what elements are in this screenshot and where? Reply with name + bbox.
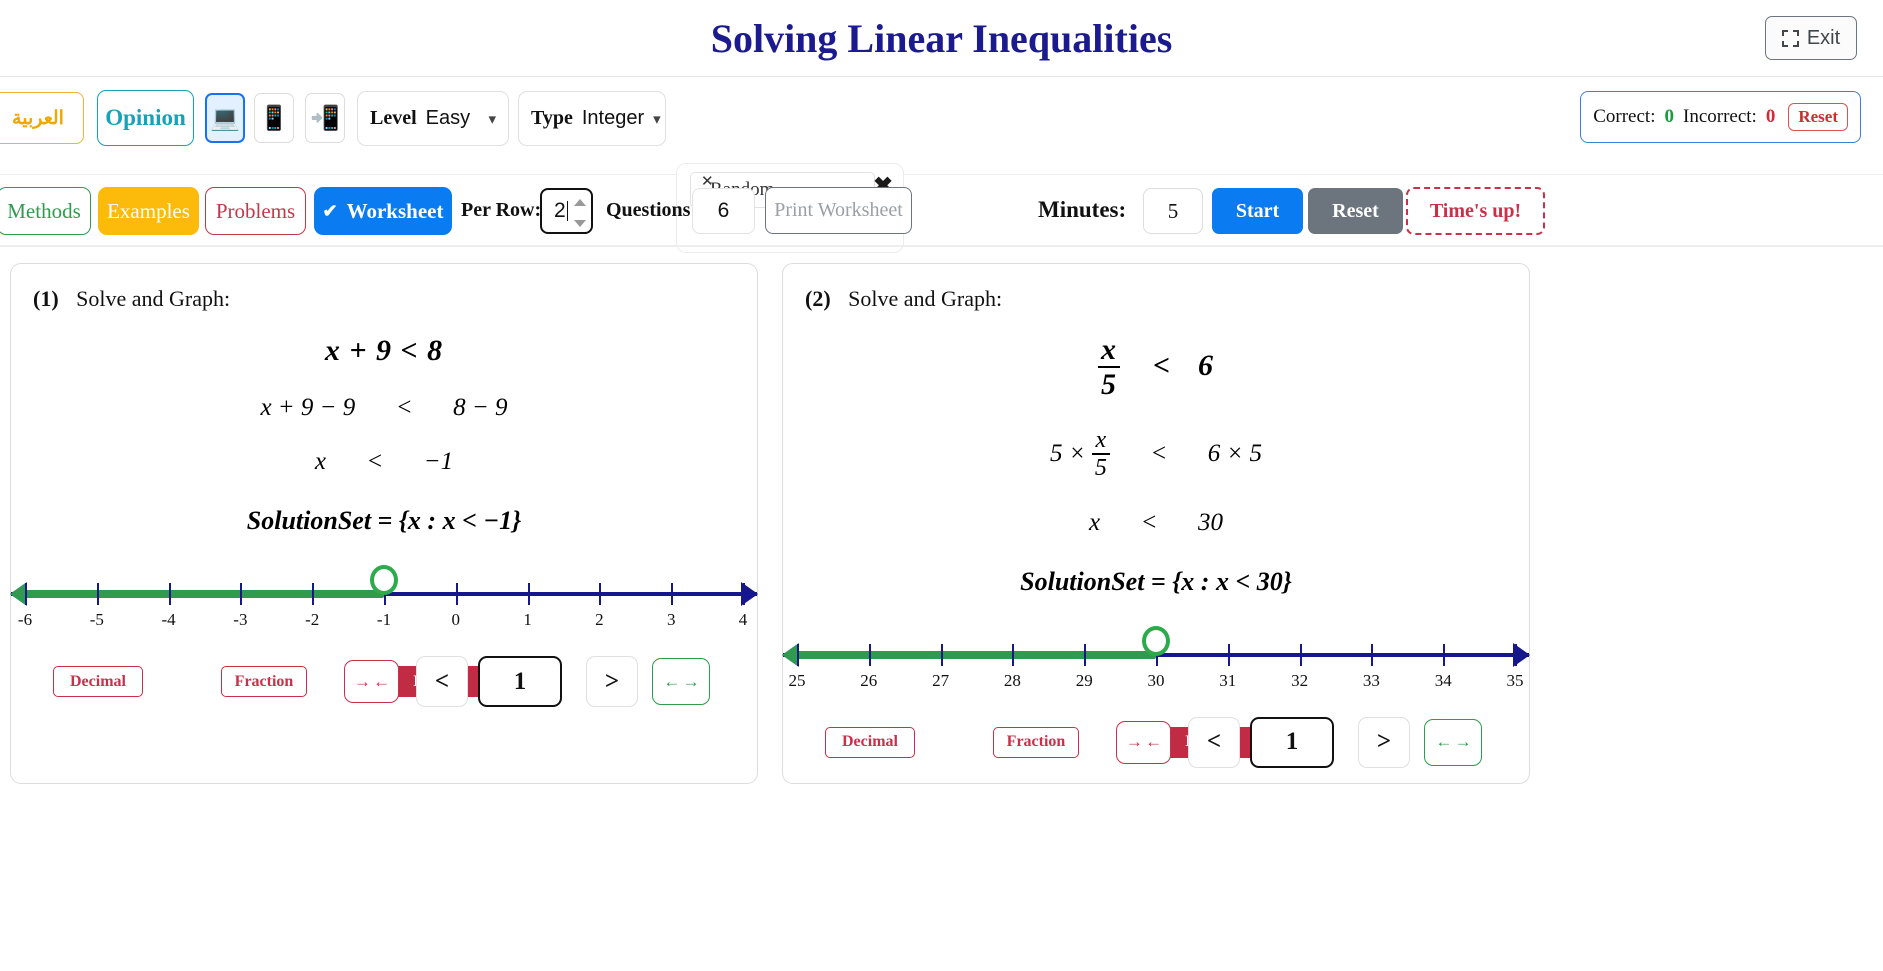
tab-methods[interactable]: Methods: [0, 187, 91, 235]
chevron-down-icon: ▾: [653, 110, 661, 128]
problem-2-step-1: 5 × x 5 < 6 × 5: [783, 428, 1529, 483]
exit-label: Exit: [1807, 27, 1840, 50]
problem-2-solution-set: SolutionSet = {x : x < 30}: [783, 567, 1529, 597]
axis-tick-label: 2: [595, 610, 604, 630]
level-label: Level: [370, 107, 417, 130]
less-than-icon: <: [1207, 728, 1221, 756]
increment-button[interactable]: >: [1358, 717, 1410, 768]
axis-tick-label: 27: [932, 671, 949, 691]
axis-tick: [1012, 644, 1014, 666]
problem-card-1: (1) Solve and Graph: x + 9 < 8 x + 9 − 9…: [10, 263, 758, 784]
greater-than-icon: >: [605, 668, 619, 696]
axis-tick: [312, 583, 314, 605]
minutes-label: Minutes:: [1038, 197, 1126, 223]
step-right: −1: [424, 448, 453, 475]
axis-tick-label: 31: [1219, 671, 1236, 691]
step-value: 1: [514, 668, 527, 696]
step-value-input[interactable]: 1: [478, 656, 562, 707]
increment-button[interactable]: >: [586, 656, 638, 707]
step-left: x: [1089, 509, 1100, 536]
axis-tick: [743, 583, 745, 605]
problem-2-prompt: Solve and Graph:: [848, 286, 1002, 311]
axis-tick-label: -2: [305, 610, 319, 630]
fraction: x 5: [1092, 428, 1110, 483]
step-rel: <: [366, 448, 383, 475]
problem-1-header: (1) Solve and Graph:: [11, 264, 757, 312]
problem-2-number: (2): [805, 286, 831, 311]
correct-label: Correct:: [1593, 106, 1655, 128]
axis-tick: [1228, 644, 1230, 666]
arrows-outward-icon: ← →: [1435, 732, 1470, 752]
problem-1-prompt: Solve and Graph:: [76, 286, 230, 311]
axis-tick-label: -1: [377, 610, 391, 630]
step-rel: <: [1150, 440, 1167, 467]
mode-fraction-button[interactable]: Fraction: [993, 727, 1079, 758]
tab-problems[interactable]: Problems: [205, 187, 306, 235]
toolbar-primary: العربية Opinion 💻 📱 📲 Level Easy ▾ Type …: [0, 77, 1883, 175]
axis-tick: [671, 583, 673, 605]
mobile-phone-icon: 📲: [310, 104, 340, 133]
per-row-value: 2: [554, 199, 566, 223]
desktop-view-button[interactable]: 💻: [205, 93, 245, 143]
fraction-numerator: x: [1092, 428, 1110, 455]
axis-tick: [240, 583, 242, 605]
chevron-down-icon: ▾: [488, 110, 496, 128]
zoom-out-range-button[interactable]: ← →: [652, 658, 710, 705]
axis-tick-label: 25: [789, 671, 806, 691]
mobile-view-button[interactable]: 📲: [305, 93, 345, 143]
axis-tick-label: -6: [18, 610, 32, 630]
tablet-view-button[interactable]: 📱: [254, 93, 294, 143]
boundary-point-open-circle[interactable]: [1142, 626, 1170, 656]
start-timer-button[interactable]: Start: [1212, 188, 1303, 234]
problem-1-number-line[interactable]: -6-5-4-3-2-101234: [11, 558, 757, 642]
step-value: 1: [1286, 728, 1299, 756]
zoom-out-range-button[interactable]: ← →: [1424, 719, 1482, 766]
axis-tick-label: 35: [1507, 671, 1524, 691]
minutes-value: 5: [1168, 199, 1179, 224]
level-select[interactable]: Level Easy ▾: [357, 91, 509, 146]
arrows-outward-icon: ← →: [663, 672, 698, 692]
axis-tick-label: 26: [860, 671, 877, 691]
right-hand-side: 6: [1198, 349, 1214, 382]
problem-1-step-1: x + 9 − 9 < 8 − 9: [11, 394, 757, 422]
minutes-input[interactable]: 5: [1143, 188, 1203, 234]
language-arabic-button[interactable]: العربية: [0, 92, 84, 144]
score-panel: Correct: 0 Incorrect: 0 Reset: [1580, 91, 1861, 143]
axis-tick: [528, 583, 530, 605]
axis-tick-label: -5: [90, 610, 104, 630]
type-select[interactable]: Type Integer ▾: [518, 91, 666, 146]
fraction: x 5: [1098, 334, 1120, 402]
fraction-denominator: 5: [1098, 368, 1120, 403]
per-row-stepper[interactable]: 2: [540, 188, 593, 234]
spinner-up-icon: [574, 199, 586, 206]
problem-1-step-2: x < −1: [11, 448, 757, 476]
axis-tick-label: -3: [233, 610, 247, 630]
axis-tick-label: 0: [452, 610, 461, 630]
tab-worksheet-label: Worksheet: [347, 199, 444, 224]
axis-tick: [869, 644, 871, 666]
axis-tick: [97, 583, 99, 605]
less-than-icon: <: [435, 668, 449, 696]
problem-1-controls: DecimalFractionInteger→ ←<1>← →: [11, 660, 757, 722]
axis-tick: [25, 583, 27, 605]
arrows-inward-icon: → ←: [354, 672, 389, 692]
incorrect-label: Incorrect:: [1683, 106, 1757, 128]
print-worksheet-button[interactable]: Print Worksheet: [765, 187, 912, 234]
axis-tick: [1300, 644, 1302, 666]
mode-decimal-button[interactable]: Decimal: [53, 666, 143, 697]
solution-shading: [787, 651, 1156, 659]
step-rel: <: [1141, 509, 1158, 536]
axis-tick-label: 30: [1148, 671, 1165, 691]
problem-2-equation: x 5 < 6: [783, 334, 1529, 402]
fullscreen-exit-icon: [1782, 30, 1799, 47]
mode-fraction-button[interactable]: Fraction: [221, 666, 307, 697]
check-icon: ✔: [323, 201, 338, 222]
axis-tick: [797, 644, 799, 666]
tab-worksheet[interactable]: ✔ Worksheet: [314, 187, 452, 235]
problem-1-number: (1): [33, 286, 59, 311]
level-value: Easy: [426, 107, 470, 130]
laptop-icon: 💻: [210, 104, 240, 133]
boundary-point-open-circle[interactable]: [370, 565, 398, 595]
score-reset-button[interactable]: Reset: [1788, 103, 1848, 131]
axis-tick: [1515, 644, 1517, 666]
problem-2-step-2: x < 30: [783, 509, 1529, 537]
axis-tick-label: 4: [739, 610, 748, 630]
reset-timer-button[interactable]: Reset: [1308, 188, 1403, 234]
axis-tick-label: 29: [1076, 671, 1093, 691]
questions-value: 6: [718, 199, 730, 223]
app-header: Solving Linear Inequalities Exit: [0, 0, 1883, 77]
fraction-numerator: x: [1098, 334, 1120, 368]
per-row-label: Per Row:: [461, 199, 541, 222]
axis-tick-label: 1: [523, 610, 532, 630]
relation-symbol: <: [1153, 349, 1171, 382]
mode-decimal-button[interactable]: Decimal: [825, 727, 915, 758]
calculator-icon: 📱: [259, 104, 289, 133]
greater-than-icon: >: [1377, 728, 1391, 756]
solution-shading: [15, 590, 384, 598]
correct-count: 0: [1665, 106, 1675, 128]
step-left: x + 9 − 9: [260, 394, 355, 421]
axis-tick: [169, 583, 171, 605]
spinner-down-icon: [574, 220, 586, 227]
axis-tick: [1084, 644, 1086, 666]
type-label: Type: [531, 107, 573, 130]
axis-tick: [456, 583, 458, 605]
problem-2-number-line[interactable]: 2526272829303132333435: [783, 619, 1529, 703]
step-left-prefix: 5 ×: [1050, 440, 1086, 467]
arrows-inward-icon: → ←: [1126, 732, 1161, 752]
per-row-spinner[interactable]: [574, 199, 586, 227]
axis-tick-label: 33: [1363, 671, 1380, 691]
incorrect-count: 0: [1766, 106, 1776, 128]
axis-tick-label: 34: [1435, 671, 1452, 691]
axis-tick-label: 28: [1004, 671, 1021, 691]
step-left: x: [315, 448, 326, 475]
zoom-in-range-button[interactable]: → ←: [344, 660, 399, 703]
step-value-input[interactable]: 1: [1250, 717, 1334, 768]
page-title: Solving Linear Inequalities: [711, 15, 1173, 62]
times-up-indicator[interactable]: Time's up!: [1406, 187, 1545, 235]
axis-tick: [1371, 644, 1373, 666]
step-rel: <: [396, 394, 413, 421]
zoom-in-range-button[interactable]: → ←: [1116, 721, 1171, 764]
tab-examples[interactable]: Examples: [98, 187, 199, 235]
axis-tick: [941, 644, 943, 666]
axis-tick: [1443, 644, 1445, 666]
problem-1-equation: x + 9 < 8: [11, 334, 757, 368]
worksheet-grid: (1) Solve and Graph: x + 9 < 8 x + 9 − 9…: [0, 247, 1883, 784]
problem-card-2: (2) Solve and Graph: x 5 < 6 5 × x 5: [782, 263, 1530, 784]
step-right: 6 × 5: [1208, 440, 1262, 467]
step-right: 8 − 9: [453, 394, 507, 421]
type-value: Integer: [582, 107, 644, 130]
decrement-button[interactable]: <: [1188, 717, 1240, 768]
axis-tick: [599, 583, 601, 605]
problem-2-header: (2) Solve and Graph:: [783, 264, 1529, 312]
problem-2-controls: DecimalFractionInteger→ ←<1>← →: [783, 721, 1529, 783]
axis-tick-label: -4: [162, 610, 176, 630]
axis-tick-label: 3: [667, 610, 676, 630]
decrement-button[interactable]: <: [416, 656, 468, 707]
exit-button[interactable]: Exit: [1765, 16, 1857, 60]
step-right: 30: [1198, 509, 1223, 536]
opinion-button[interactable]: Opinion: [97, 90, 194, 146]
questions-input[interactable]: 6: [692, 188, 755, 234]
fraction-denominator: 5: [1092, 455, 1110, 483]
questions-label: Questions:: [606, 199, 697, 222]
problem-1-solution-set: SolutionSet = {x : x < −1}: [11, 506, 757, 536]
axis-tick-label: 32: [1291, 671, 1308, 691]
toolbar-secondary: Methods Examples Problems ✔ Worksheet Pe…: [0, 175, 1883, 247]
